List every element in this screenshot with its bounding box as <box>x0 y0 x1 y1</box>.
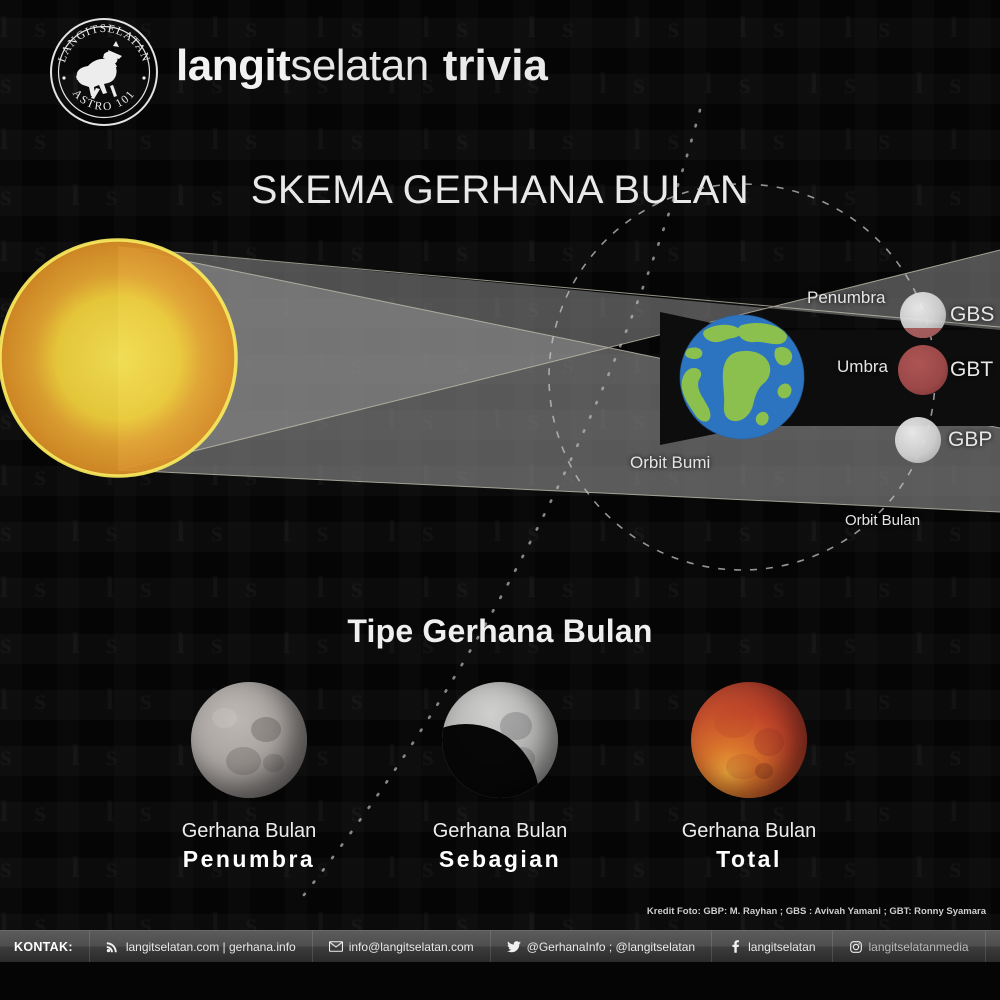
facebook-icon <box>728 940 742 954</box>
earth-body <box>680 315 804 439</box>
kontak-label: KONTAK: <box>0 940 89 954</box>
footer-item-facebook-text: langitselatan <box>748 940 815 954</box>
instagram-icon <box>849 940 863 954</box>
footer-item-email[interactable]: info@langitselatan.com <box>312 931 490 963</box>
rss-icon <box>106 940 120 954</box>
footer-item-twitter-text: @GerhanaInfo ; @langitselatan <box>527 940 695 954</box>
infographic-canvas: ls ls ls ls ls ls ls ls ls ls ls ls ls l… <box>0 0 1000 1000</box>
eclipse-type-card-sebagian: Gerhana Bulan Sebagian <box>370 682 630 874</box>
umbra-label: Umbra <box>837 357 888 377</box>
eclipse-type-caption-line1-penumbra: Gerhana Bulan <box>119 818 379 844</box>
footer-bottom-strip <box>0 962 1000 1000</box>
orbit-bulan-label: Orbit Bulan <box>845 512 920 529</box>
eclipse-type-caption-line2-sebagian: Sebagian <box>370 844 630 874</box>
footer-item-twitter[interactable]: @GerhanaInfo ; @langitselatan <box>490 931 711 963</box>
twitter-icon <box>507 940 521 954</box>
orbit-bumi-label: Orbit Bumi <box>630 453 710 473</box>
eclipse-type-caption-line2-total: Total <box>619 844 879 874</box>
footer-item-website-text: langitselatan.com | gerhana.info <box>126 940 296 954</box>
moon-partial-photo <box>442 682 558 798</box>
moon-tag-gbt: GBT <box>950 358 993 382</box>
penumbra-label: Penumbra <box>807 288 885 308</box>
moon-penumbral-photo <box>191 682 307 798</box>
eclipse-type-caption-line2-penumbra: Penumbra <box>119 844 379 874</box>
moon-tag-gbp: GBP <box>948 428 992 452</box>
eclipse-type-card-total: Gerhana Bulan Total <box>619 682 879 874</box>
footer-item-googleplus[interactable]: G+ LangitselatanMedia <box>985 931 1000 963</box>
types-section-title: Tipe Gerhana Bulan <box>0 613 1000 650</box>
eclipse-type-card-penumbra: Gerhana Bulan Penumbra <box>119 682 379 874</box>
sun-body <box>0 240 236 476</box>
moon-total-photo <box>691 682 807 798</box>
photo-credit: Kredit Foto: GBP: M. Rayhan ; GBS : Aviv… <box>647 906 986 917</box>
moon-tag-gbs: GBS <box>950 303 994 327</box>
eclipse-type-caption-line1-sebagian: Gerhana Bulan <box>370 818 630 844</box>
footer-item-instagram-text: langitselatanmedia <box>869 940 969 954</box>
moon-gbp-penumbral <box>895 417 941 463</box>
moon-gbt-total <box>898 345 948 395</box>
eclipse-type-caption-line1-total: Gerhana Bulan <box>619 818 879 844</box>
envelope-icon <box>329 940 343 954</box>
footer-item-website[interactable]: langitselatan.com | gerhana.info <box>89 931 312 963</box>
footer-item-instagram[interactable]: langitselatanmedia <box>832 931 985 963</box>
footer-item-email-text: info@langitselatan.com <box>349 940 474 954</box>
footer-item-facebook[interactable]: langitselatan <box>711 931 831 963</box>
contact-footer-bar: KONTAK: langitselatan.com | gerhana.info… <box>0 930 1000 962</box>
